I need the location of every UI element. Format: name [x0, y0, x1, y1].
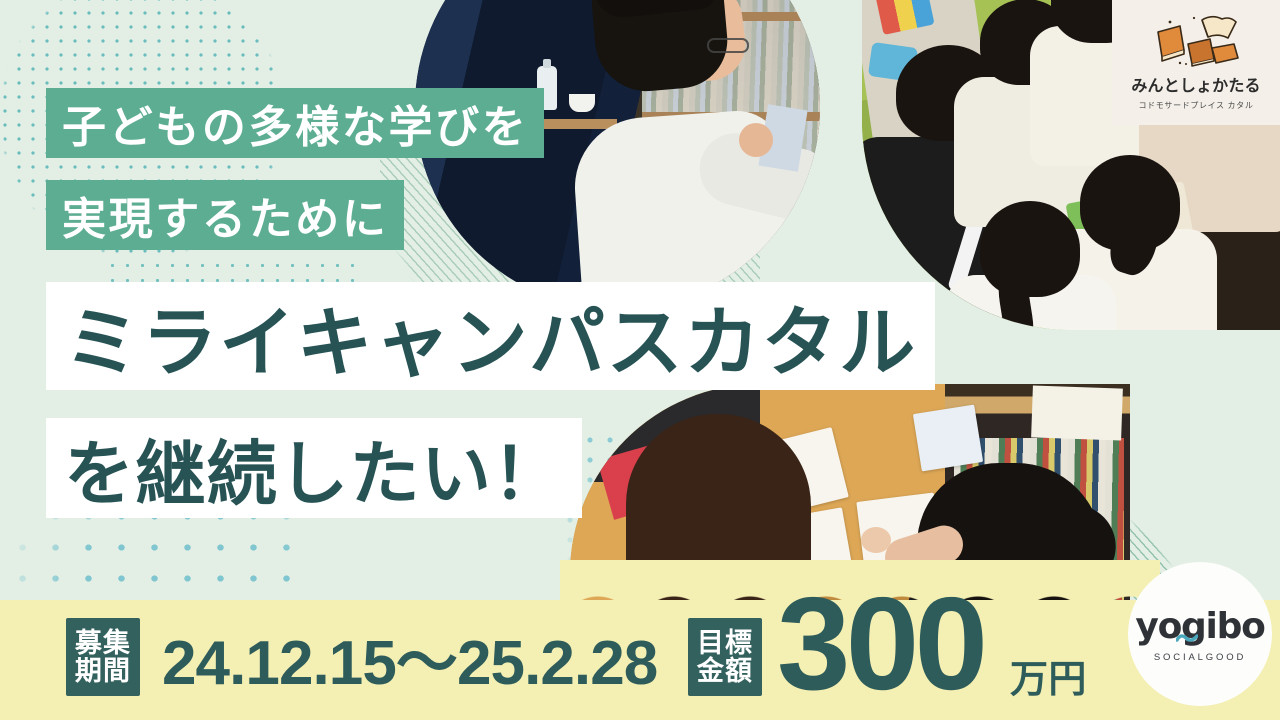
- yogibo-wordmark: yogibo: [1135, 606, 1264, 647]
- application-period-value: 24.12.15〜25.2.28: [162, 617, 657, 697]
- campaign-banner: 子どもの多様な学びを 実現するために ミライキャンパスカタル を継続したい！ み…: [0, 0, 1280, 720]
- goal-badge-line-1: 目標: [697, 629, 753, 657]
- goal-amount-number: 300: [777, 578, 983, 710]
- org-logo-name: みんとしょかたる: [1131, 72, 1260, 96]
- goal-amount-badge: 目標 金額: [688, 618, 762, 696]
- headline-line-4: を継続したい！: [46, 418, 582, 518]
- org-logo-subtitle: コドモサードプレイス カタル: [1139, 100, 1254, 111]
- goal-badge-line-2: 金額: [697, 657, 753, 685]
- goal-amount-unit: 万円: [1010, 648, 1087, 703]
- headline-line-3-title: ミライキャンパスカタル: [46, 282, 935, 390]
- application-period-badge: 募集 期間: [66, 618, 140, 696]
- yogibo-squiggle-icon: [1176, 632, 1198, 644]
- yogibo-tagline: SOCIALGOOD: [1154, 652, 1246, 663]
- org-logo-panel: みんとしょかたる コドモサードプレイス カタル: [1112, 0, 1280, 125]
- sponsor-logo-yogibo: yogibo SOCIALGOOD: [1128, 562, 1272, 706]
- period-badge-line-1: 募集: [75, 629, 131, 657]
- period-badge-line-2: 期間: [75, 657, 131, 685]
- headline-line-2: 実現するために: [46, 180, 404, 250]
- yogibo-wordmark-group: yogibo: [1135, 606, 1264, 647]
- headline-line-1: 子どもの多様な学びを: [46, 88, 544, 158]
- stacked-books-icon: [1150, 14, 1242, 68]
